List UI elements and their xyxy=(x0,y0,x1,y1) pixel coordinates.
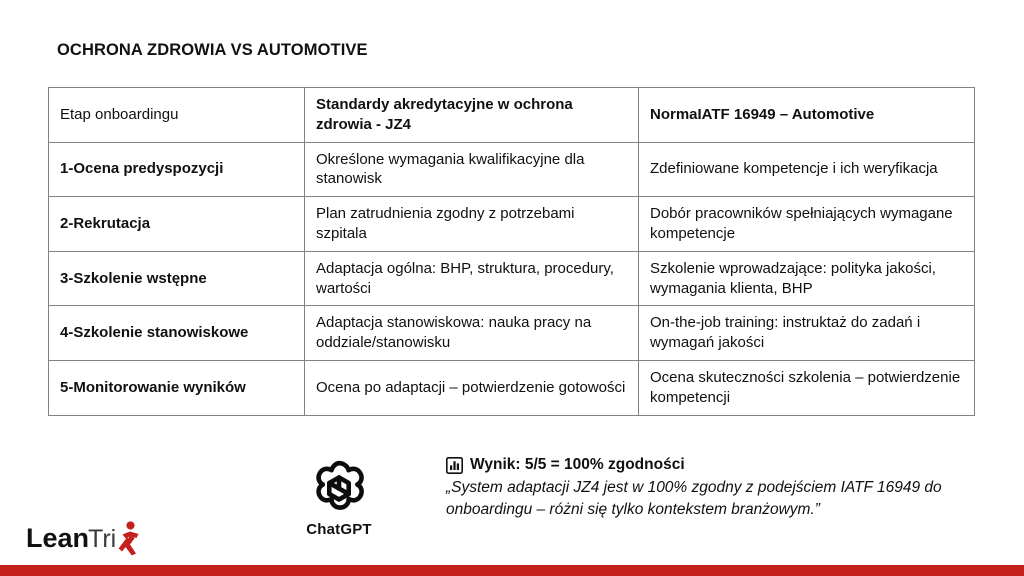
result-summary: Wynik: 5/5 = 100% zgodności „System adap… xyxy=(446,456,966,521)
result-headline-text: Wynik: 5/5 = 100% zgodności xyxy=(470,456,685,474)
openai-knot-icon xyxy=(296,456,382,520)
cell-automotive: Dobór pracowników spełniających wymagane… xyxy=(639,197,975,252)
table-row: 3-Szkolenie wstępne Adaptacja ogólna: BH… xyxy=(49,251,975,306)
comparison-table: Etap onboardingu Standardy akredytacyjne… xyxy=(48,87,975,416)
bottom-accent-bar xyxy=(0,565,1024,576)
cell-automotive: Szkolenie wprowadzające: polityka jakośc… xyxy=(639,251,975,306)
cell-stage: 4-Szkolenie stanowiskowe xyxy=(49,306,305,361)
cell-automotive: Ocena skuteczności szkolenia – potwierdz… xyxy=(639,360,975,415)
table-header: Etap onboardingu Standardy akredytacyjne… xyxy=(49,88,975,143)
cell-stage: 3-Szkolenie wstępne xyxy=(49,251,305,306)
cell-stage: 1-Ocena predyspozycji xyxy=(49,142,305,197)
leantrix-logo: Lean Tri xyxy=(26,517,156,559)
column-header-automotive: NormaIATF 16949 – Automotive xyxy=(639,88,975,143)
chatgpt-label: ChatGPT xyxy=(296,521,382,538)
table-body: 1-Ocena predyspozycji Określone wymagani… xyxy=(49,142,975,415)
page-title: OCHRONA ZDROWIA VS AUTOMOTIVE xyxy=(57,41,368,60)
cell-healthcare: Adaptacja stanowiskowa: nauka pracy na o… xyxy=(305,306,639,361)
cell-healthcare: Adaptacja ogólna: BHP, struktura, proced… xyxy=(305,251,639,306)
column-header-stage: Etap onboardingu xyxy=(49,88,305,143)
cell-healthcare: Określone wymagania kwalifikacyjne dla s… xyxy=(305,142,639,197)
bar-chart-icon xyxy=(446,457,463,474)
table-header-row: Etap onboardingu Standardy akredytacyjne… xyxy=(49,88,975,143)
logo-runner-mark xyxy=(119,521,139,555)
column-header-healthcare: Standardy akredytacyjne w ochrona zdrowi… xyxy=(305,88,639,143)
cell-stage: 5-Monitorowanie wyników xyxy=(49,360,305,415)
cell-automotive: On-the-job training: instruktaż do zadań… xyxy=(639,306,975,361)
table-row: 5-Monitorowanie wyników Ocena po adaptac… xyxy=(49,360,975,415)
cell-healthcare: Ocena po adaptacji – potwierdzenie gotow… xyxy=(305,360,639,415)
logo-text-lean: Lean xyxy=(26,523,89,553)
table-row: 2-Rekrutacja Plan zatrudnienia zgodny z … xyxy=(49,197,975,252)
result-quote: „System adaptacji JZ4 jest w 100% zgodny… xyxy=(446,477,946,521)
cell-stage: 2-Rekrutacja xyxy=(49,197,305,252)
result-headline-row: Wynik: 5/5 = 100% zgodności xyxy=(446,456,966,474)
table-row: 1-Ocena predyspozycji Określone wymagani… xyxy=(49,142,975,197)
table-row: 4-Szkolenie stanowiskowe Adaptacja stano… xyxy=(49,306,975,361)
logo-text-tri: Tri xyxy=(88,525,116,553)
cell-automotive: Zdefiniowane kompetencje i ich weryfikac… xyxy=(639,142,975,197)
cell-healthcare: Plan zatrudnienia zgodny z potrzebami sz… xyxy=(305,197,639,252)
chatgpt-branding: ChatGPT xyxy=(296,456,382,538)
